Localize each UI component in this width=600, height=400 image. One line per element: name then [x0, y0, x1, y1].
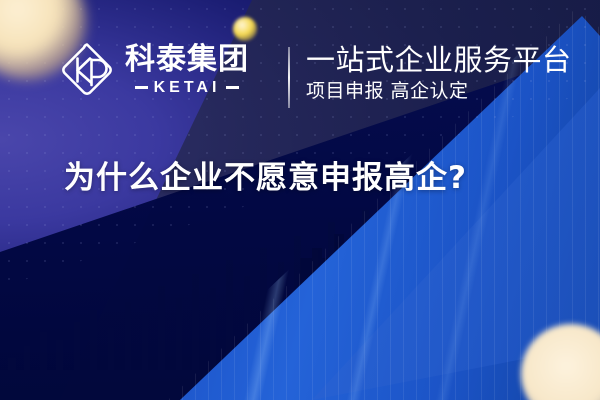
brand-wordmark: 科泰集团 KETAI: [125, 44, 249, 96]
brand-dash-left-icon: [135, 86, 148, 89]
brand-lockup[interactable]: 科泰集团 KETAI: [58, 41, 249, 99]
brand-dash-right-icon: [226, 86, 239, 89]
slogan-main-text: 一站式企业服务平台: [306, 44, 572, 76]
brand-name-cn: 科泰集团: [125, 44, 249, 76]
ketai-diamond-kd-monogram-icon: [58, 41, 116, 99]
brand-name-en-row: KETAI: [135, 80, 240, 96]
banner-content: 科泰集团 KETAI 一站式企业服务平台 项目申报 高企认定 为什么企业不愿意申…: [0, 0, 600, 400]
headline-text: 为什么企业不愿意申报高企?: [64, 160, 467, 197]
promo-banner: 科泰集团 KETAI 一站式企业服务平台 项目申报 高企认定 为什么企业不愿意申…: [0, 0, 600, 400]
brand-name-en: KETAI: [154, 80, 221, 96]
slogan-block: 一站式企业服务平台 项目申报 高企认定: [306, 44, 572, 104]
vertical-divider: [288, 47, 290, 108]
slogan-sub-text: 项目申报 高企认定: [306, 80, 572, 104]
